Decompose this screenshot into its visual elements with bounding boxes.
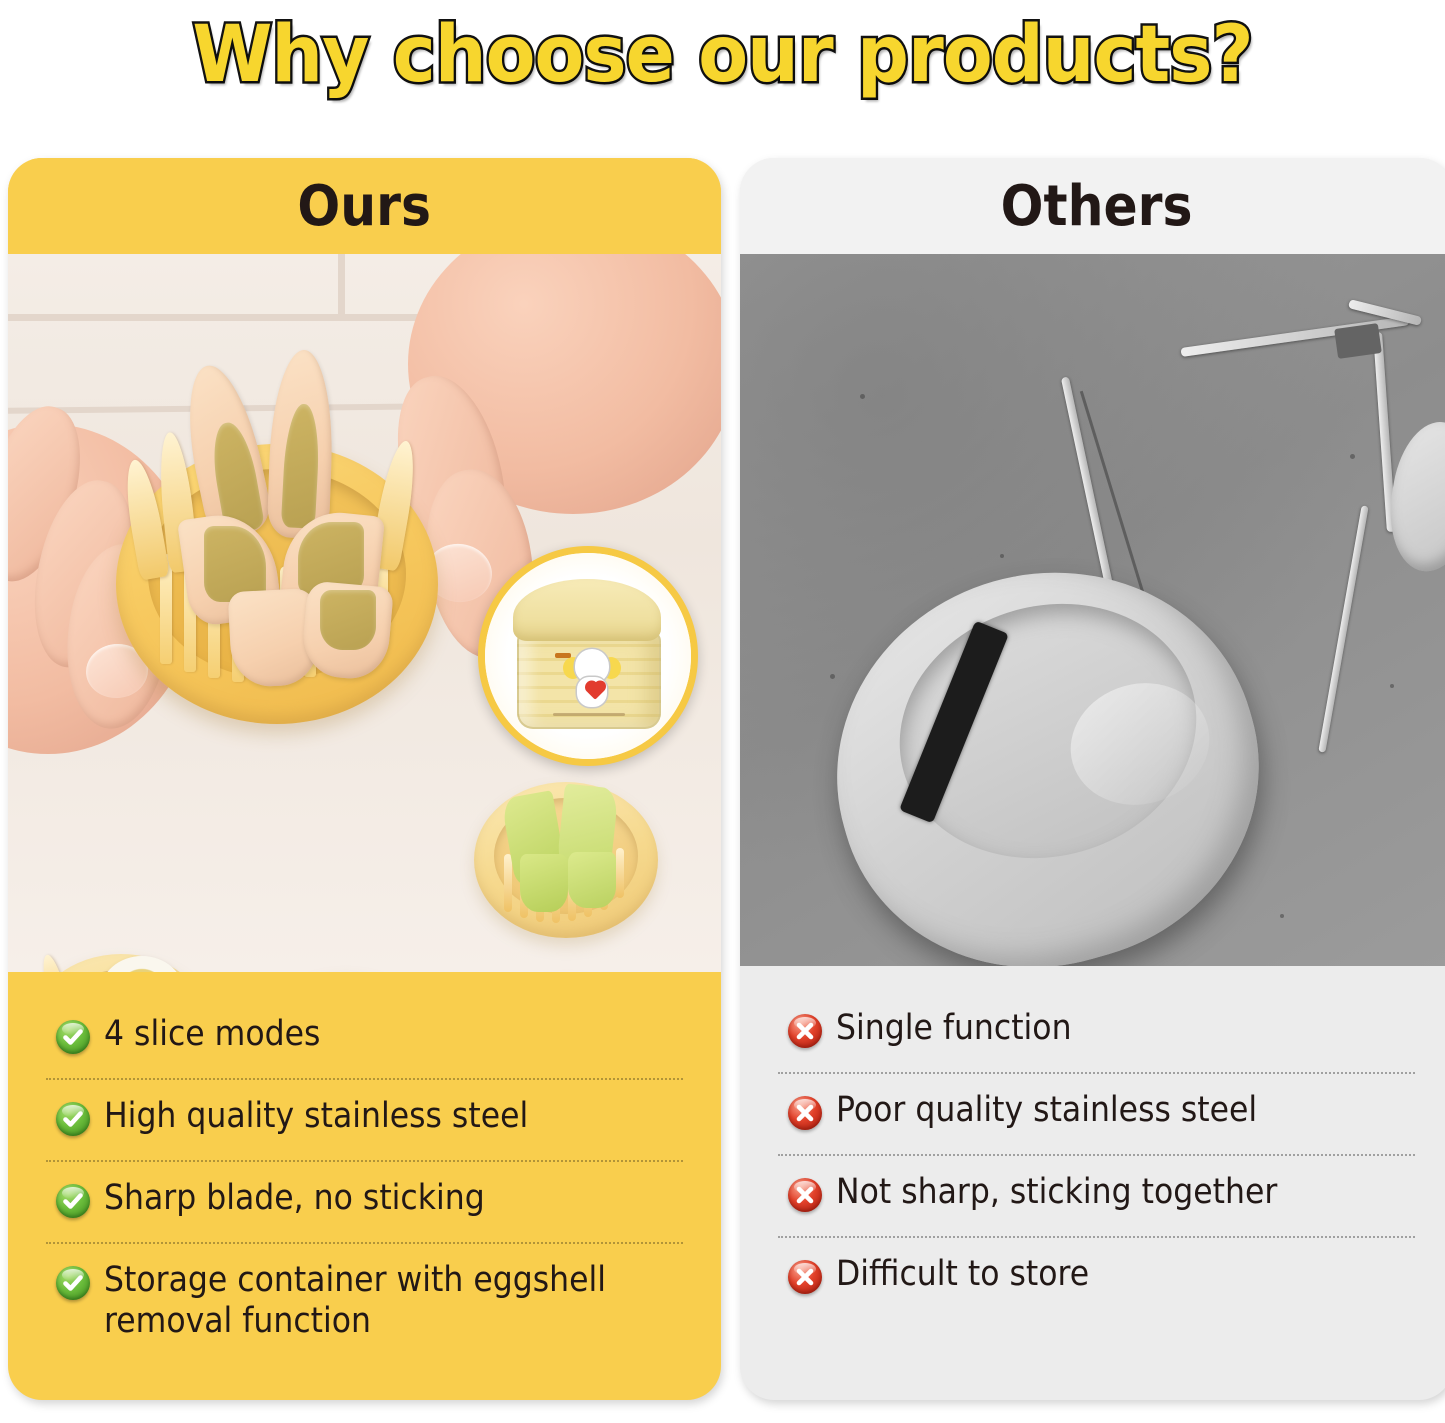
feature-row: Sharp blade, no sticking: [38, 1162, 691, 1242]
check-circle-icon: [56, 1184, 90, 1218]
feature-row: Storage container with eggshell removal …: [38, 1244, 691, 1359]
check-circle-icon: [56, 1020, 90, 1054]
product-photo-ours: [8, 254, 721, 972]
kiwi-wedge: [520, 854, 568, 912]
cross-circle-icon: [788, 1096, 822, 1130]
inset-storage-container: [478, 546, 698, 766]
feature-row: High quality stainless steel: [38, 1080, 691, 1160]
kiwi-wedge: [568, 852, 616, 908]
cross-circle-icon: [788, 1014, 822, 1048]
feature-label: Poor quality stainless steel: [836, 1090, 1359, 1131]
feature-list-ours: 4 slice modes High quality stainless ste…: [8, 972, 721, 1400]
slicer-comb-tooth: [504, 854, 512, 912]
comparison-panel-others: Others Single f: [740, 158, 1445, 1400]
feature-row: Difficult to store: [770, 1238, 1423, 1318]
feature-label: Not sharp, sticking together: [836, 1172, 1359, 1213]
wire-clip: [1334, 323, 1382, 359]
tile-grout-line: [338, 254, 345, 320]
feature-label: Difficult to store: [836, 1254, 1359, 1295]
feature-list-others: Single function Poor quality stainless s…: [740, 966, 1445, 1400]
feature-row: 4 slice modes: [38, 998, 691, 1078]
comparison-panel-ours: Ours: [8, 158, 721, 1400]
cross-circle-icon: [788, 1260, 822, 1294]
panel-header-ours-label: Ours: [298, 174, 432, 239]
panel-header-ours: Ours: [8, 158, 721, 254]
panel-header-others-label: Others: [1001, 174, 1193, 239]
check-circle-icon: [56, 1266, 90, 1300]
page-title: Why choose our products?: [51, 0, 1395, 110]
feature-label: Sharp blade, no sticking: [104, 1178, 627, 1219]
feature-label: Storage container with eggshell removal …: [104, 1260, 627, 1343]
feature-row: Poor quality stainless steel: [770, 1074, 1423, 1154]
check-circle-icon: [56, 1102, 90, 1136]
feature-row: Single function: [770, 992, 1423, 1072]
container-label-subtext: [553, 713, 625, 716]
feature-row: Not sharp, sticking together: [770, 1156, 1423, 1236]
panel-header-others: Others: [740, 158, 1445, 254]
cross-circle-icon: [788, 1178, 822, 1212]
feature-label: High quality stainless steel: [104, 1096, 627, 1137]
container-label-text: [555, 653, 571, 658]
egg-yolk: [320, 590, 376, 650]
feature-label: 4 slice modes: [104, 1014, 627, 1055]
slicer-comb-tooth: [616, 848, 624, 898]
product-photo-others: [740, 254, 1445, 966]
feature-label: Single function: [836, 1008, 1359, 1049]
